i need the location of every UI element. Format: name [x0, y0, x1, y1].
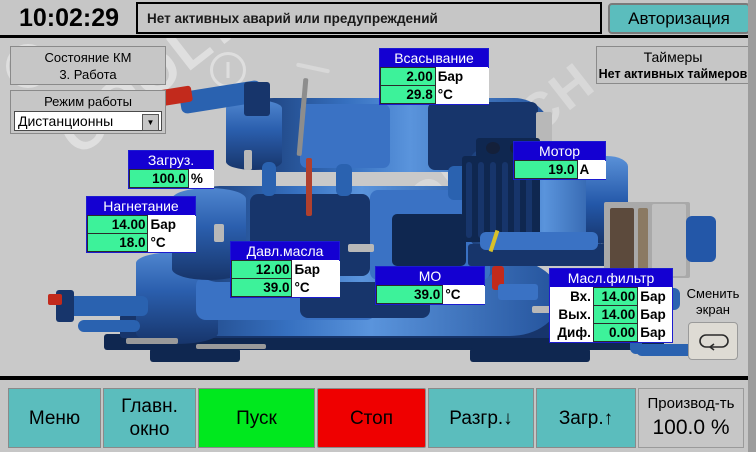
- readout-discharge: Нагнетание 14.00 Бар 18.0 °C: [86, 196, 196, 253]
- km-state-title: Состояние КМ: [11, 49, 165, 66]
- readout-unit: °C: [443, 286, 485, 304]
- readout-motor-title: Мотор: [514, 142, 605, 160]
- authorization-button[interactable]: Авторизация: [608, 3, 750, 34]
- readout-oil-filter: Масл.фильтр Вх. 14.00 Бар Вых. 14.00 Бар…: [549, 268, 673, 343]
- timers-value: Нет активных таймеров: [597, 66, 749, 83]
- readout-label: Вх.: [550, 288, 593, 306]
- readout-value: 39.0: [377, 286, 443, 304]
- readout-row: Вх. 14.00 Бар: [550, 288, 672, 306]
- bottom-button-bar: Меню Главн. окно Пуск Стоп Разгр.↓ Загр.…: [0, 376, 756, 452]
- readout-oil-pressure-title: Давл.масла: [231, 242, 339, 260]
- readout-load-title: Загруз.: [129, 151, 213, 169]
- capacity-value: 100.0 %: [639, 414, 743, 442]
- readout-value: 29.8: [381, 86, 436, 104]
- readout-motor: Мотор 19.0 A: [513, 141, 606, 180]
- readout-value: 0.00: [593, 324, 637, 342]
- right-edge-strip: [748, 0, 756, 452]
- readout-row: Вых. 14.00 Бар: [550, 306, 672, 324]
- readout-label: Вых.: [550, 306, 593, 324]
- readout-oil-filter-title: Масл.фильтр: [550, 269, 672, 287]
- readout-value: 14.00: [88, 216, 148, 234]
- readout-unit: %: [188, 170, 213, 188]
- readout-unit: Бар: [638, 288, 672, 306]
- readout-mo-title: МО: [376, 267, 484, 285]
- readout-value: 39.0: [232, 279, 292, 297]
- readout-label: Диф.: [550, 324, 593, 342]
- readout-unit: Бар: [638, 306, 672, 324]
- km-state-value: 3. Работа: [11, 66, 165, 83]
- readout-row: Диф. 0.00 Бар: [550, 324, 672, 342]
- chevron-down-icon[interactable]: ▼: [142, 114, 159, 131]
- change-screen-control[interactable]: Сменить экран: [676, 286, 750, 372]
- unload-button[interactable]: Разгр.↓: [428, 388, 534, 448]
- stop-button[interactable]: Стоп: [317, 388, 426, 448]
- readout-row: 39.0 °C: [232, 279, 340, 297]
- readout-unit: A: [577, 161, 605, 179]
- readout-unit: Бар: [435, 68, 488, 86]
- main-mimic-area: COOLTECH COOLTECH: [0, 38, 756, 376]
- main-window-button[interactable]: Главн. окно: [103, 388, 196, 448]
- operating-mode-panel: Режим работы Дистанционны ▼: [10, 90, 166, 134]
- alarm-status-banner: Нет активных аварий или предупреждений: [136, 2, 602, 34]
- readout-suction-title: Всасывание: [380, 49, 488, 67]
- main-window-label-line1: Главн.: [121, 395, 178, 418]
- readout-unit: °C: [148, 234, 196, 252]
- readout-row: 19.0 A: [515, 161, 606, 179]
- readout-value: 14.00: [593, 306, 637, 324]
- operating-mode-value: Дистанционны: [18, 113, 113, 129]
- km-state-panel: Состояние КМ 3. Работа: [10, 46, 166, 85]
- readout-oil-pressure: Давл.масла 12.00 Бар 39.0 °C: [230, 241, 340, 298]
- top-bar: 10:02:29 Нет активных аварий или предупр…: [0, 0, 756, 38]
- readout-row: 29.8 °C: [381, 86, 489, 104]
- readout-load-percent: Загруз. 100.0 %: [128, 150, 214, 189]
- readout-value: 18.0: [88, 234, 148, 252]
- readout-unit: °C: [292, 279, 340, 297]
- readout-unit: Бар: [638, 324, 672, 342]
- operating-mode-select[interactable]: Дистанционны ▼: [14, 111, 162, 131]
- timers-title: Таймеры: [597, 48, 749, 66]
- readout-row: 2.00 Бар: [381, 68, 489, 86]
- clock-display: 10:02:29: [8, 2, 130, 34]
- readout-suction: Всасывание 2.00 Бар 29.8 °C: [379, 48, 489, 105]
- capacity-display: Производ-ть 100.0 %: [638, 388, 744, 448]
- operating-mode-title: Режим работы: [11, 93, 165, 110]
- readout-discharge-title: Нагнетание: [87, 197, 195, 215]
- readout-row: 100.0 %: [130, 170, 214, 188]
- readout-row: 14.00 Бар: [88, 216, 196, 234]
- readout-value: 12.00: [232, 261, 292, 279]
- start-button[interactable]: Пуск: [198, 388, 315, 448]
- change-screen-button[interactable]: [688, 322, 738, 360]
- main-window-label-line2: окно: [121, 418, 178, 441]
- readout-row: 39.0 °C: [377, 286, 485, 304]
- readout-mo-temperature: МО 39.0 °C: [375, 266, 485, 305]
- readout-value: 19.0: [515, 161, 578, 179]
- readout-unit: °C: [435, 86, 488, 104]
- readout-row: 18.0 °C: [88, 234, 196, 252]
- change-screen-label-line2: экран: [676, 302, 750, 318]
- readout-row: 12.00 Бар: [232, 261, 340, 279]
- change-screen-label-line1: Сменить: [676, 286, 750, 302]
- readout-unit: Бар: [148, 216, 196, 234]
- load-button[interactable]: Загр.↑: [536, 388, 636, 448]
- capacity-title: Производ-ть: [639, 394, 743, 414]
- loop-return-icon: [696, 331, 730, 351]
- timers-panel: Таймеры Нет активных таймеров: [596, 46, 750, 84]
- hmi-screen: 10:02:29 Нет активных аварий или предупр…: [0, 0, 756, 452]
- readout-unit: Бар: [292, 261, 340, 279]
- readout-value: 2.00: [381, 68, 436, 86]
- readout-value: 14.00: [593, 288, 637, 306]
- readout-value: 100.0: [130, 170, 189, 188]
- menu-button[interactable]: Меню: [8, 388, 101, 448]
